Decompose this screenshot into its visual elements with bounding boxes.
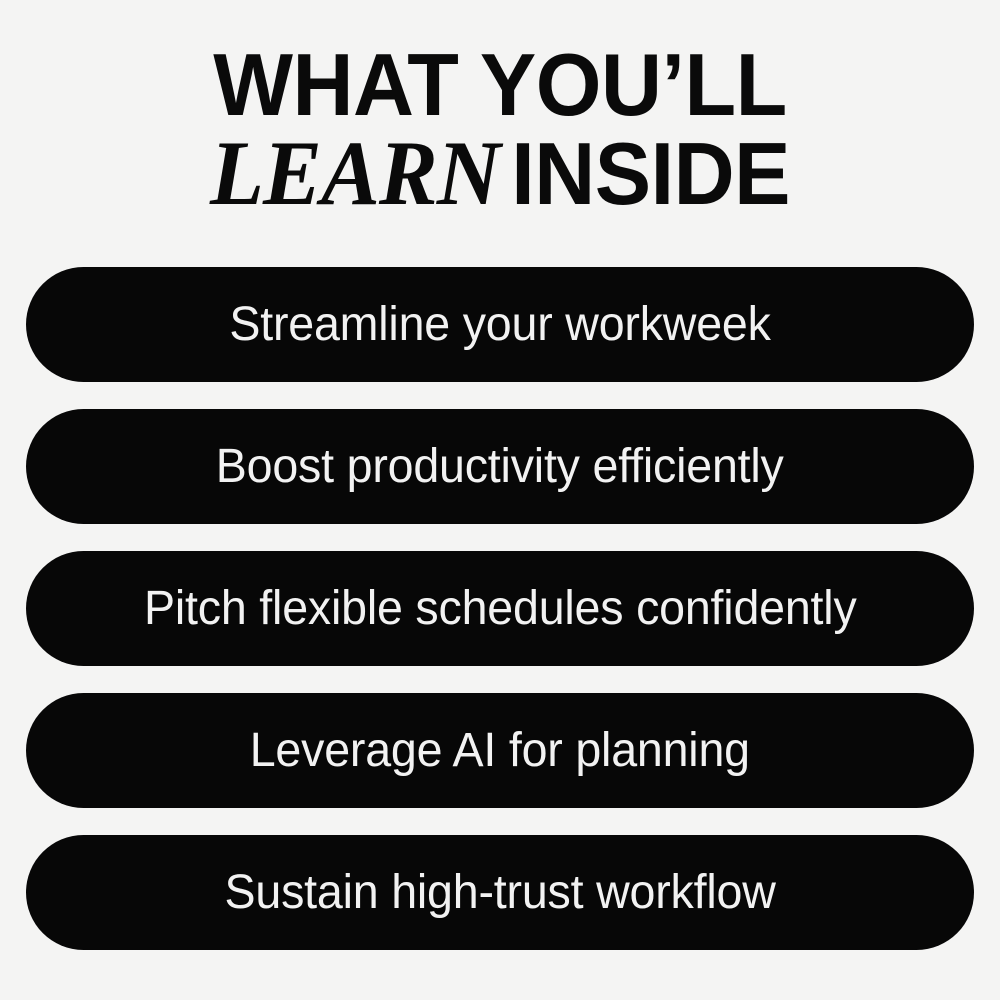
pill-label: Streamline your workweek [229, 301, 770, 349]
list-item[interactable]: Sustain high-trust workflow [26, 835, 974, 950]
benefit-pill-list: Streamline your workweek Boost productiv… [26, 267, 974, 950]
heading-word-learn: LEARN [210, 122, 511, 224]
list-item[interactable]: Boost productivity efficiently [26, 409, 974, 524]
list-item[interactable]: Leverage AI for planning [26, 693, 974, 808]
heading-line-2: LEARNINSIDE [20, 129, 980, 218]
page-title: WHAT YOU’LL LEARNINSIDE [0, 42, 1000, 219]
heading-line-1: WHAT YOU’LL [20, 42, 980, 127]
heading-word-inside: INSIDE [511, 124, 790, 223]
pill-label: Sustain high-trust workflow [224, 869, 775, 917]
list-item[interactable]: Pitch flexible schedules confidently [26, 551, 974, 666]
list-item[interactable]: Streamline your workweek [26, 267, 974, 382]
pill-label: Leverage AI for planning [250, 727, 750, 775]
pill-label: Boost productivity efficiently [216, 443, 784, 491]
pill-label: Pitch flexible schedules confidently [144, 585, 857, 633]
slide-canvas: WHAT YOU’LL LEARNINSIDE Streamline your … [0, 0, 1000, 1000]
